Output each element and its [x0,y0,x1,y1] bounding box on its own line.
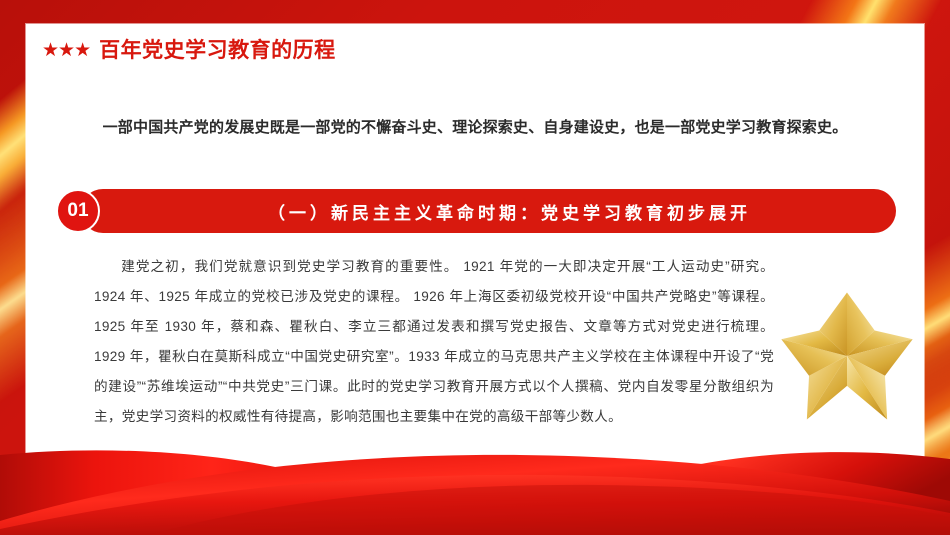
slide-root: ★★★ 百年党史学习教育的历程 一部中国共产党的发展史既是一部党的不懈奋斗史、理… [0,0,950,535]
three-stars-icon: ★★★ [42,41,90,60]
page-header: ★★★ 百年党史学习教育的历程 [42,40,336,61]
gold-five-point-star-icon [774,286,920,426]
section-banner: （一）新民主主义革命时期：党史学习教育初步展开 01 [56,189,896,233]
content-card: ★★★ 百年党史学习教育的历程 一部中国共产党的发展史既是一部党的不懈奋斗史、理… [26,24,924,472]
section-banner-heading: （一）新民主主义革命时期：党史学习教育初步展开 [226,199,751,224]
subtitle-text: 一部中国共产党的发展史既是一部党的不懈奋斗史、理论探索史、自身建设史，也是一部党… [26,116,924,137]
page-title: 百年党史学习教育的历程 [99,40,336,61]
body-text: 建党之初，我们党就意识到党史学习教育的重要性。 1921 年党的一大即决定开展“… [94,252,774,432]
section-number-badge: 01 [56,189,100,233]
body-paragraph: 建党之初，我们党就意识到党史学习教育的重要性。 1921 年党的一大即决定开展“… [94,252,774,432]
section-banner-bar: （一）新民主主义革命时期：党史学习教育初步展开 [81,189,896,233]
